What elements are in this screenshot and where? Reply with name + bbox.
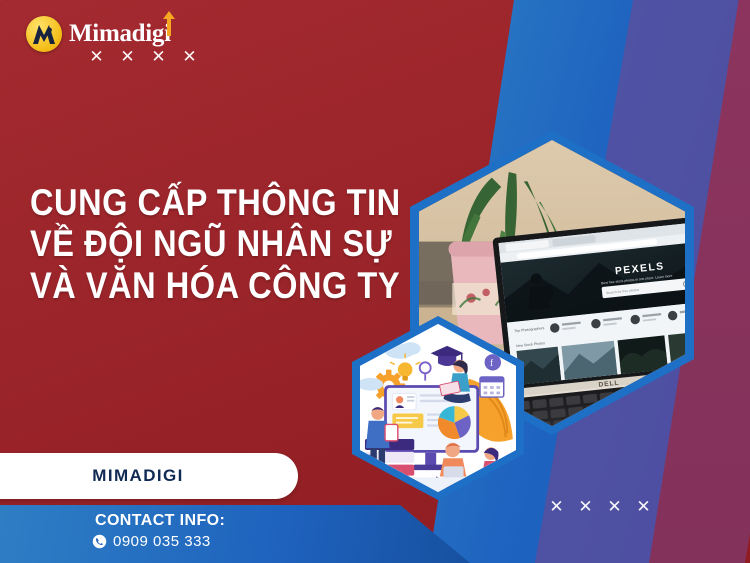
e-learning-illustration: f — [360, 324, 516, 492]
decor-x-icon: ✕ — [181, 48, 198, 65]
decor-x-icon: ✕ — [577, 498, 594, 515]
headline-line-3: VÀ VĂN HÓA CÔNG TY — [30, 265, 364, 306]
banner-canvas: Mimadigi ✕ ✕ ✕ ✕ CUNG CẤP THÔNG TIN VỀ Đ… — [0, 0, 750, 563]
growth-arrow-icon — [162, 11, 176, 37]
contact-title: CONTACT INFO: — [95, 512, 225, 530]
headline-line-2: VỀ ĐỘI NGŨ NHÂN SỰ — [30, 223, 364, 264]
contact-phone-row[interactable]: 0909 035 333 — [92, 533, 211, 550]
decor-x-row-bottom: ✕ ✕ ✕ ✕ — [548, 498, 652, 515]
brand-pill-label: MIMADIGI — [92, 466, 183, 486]
phone-circle-icon — [92, 534, 107, 549]
brand-pill-button[interactable]: MIMADIGI — [0, 453, 298, 499]
brand-logo-text: Mimadigi — [69, 20, 171, 48]
decor-x-icon: ✕ — [150, 48, 167, 65]
headline-line-1: CUNG CẤP THÔNG TIN — [30, 182, 364, 223]
brand-logo-label: Mimadigi — [69, 20, 171, 47]
headline-block: CUNG CẤP THÔNG TIN VỀ ĐỘI NGŨ NHÂN SỰ VÀ… — [30, 182, 410, 306]
decor-x-icon: ✕ — [635, 498, 652, 515]
decor-x-icon: ✕ — [119, 48, 136, 65]
decor-x-icon: ✕ — [606, 498, 623, 515]
hexagon-illustration-inner: f — [360, 324, 516, 492]
contact-phone-number: 0909 035 333 — [113, 533, 211, 550]
m-letter-icon — [31, 22, 57, 46]
decor-x-icon: ✕ — [548, 498, 565, 515]
decor-x-icon: ✕ — [88, 48, 105, 65]
mimadigi-m-monogram-icon — [26, 16, 62, 52]
contact-content: CONTACT INFO: 0909 035 333 — [0, 505, 470, 563]
decor-x-row-top: ✕ ✕ ✕ ✕ — [88, 48, 198, 65]
